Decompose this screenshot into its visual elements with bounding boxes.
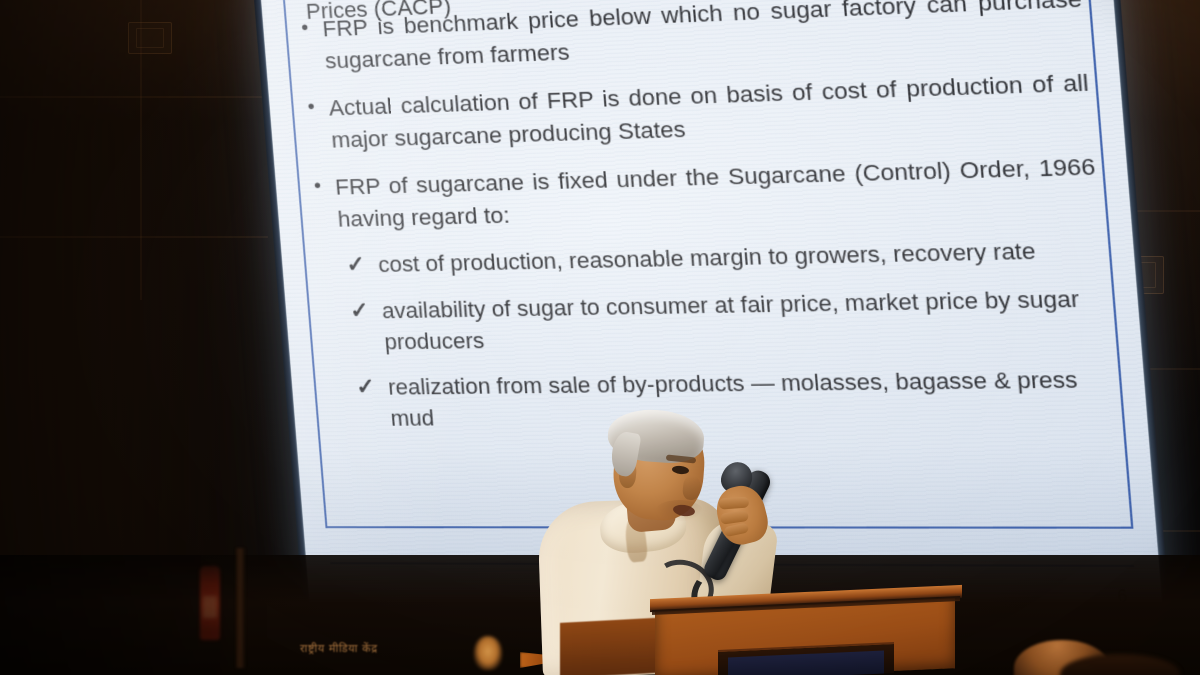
venue-sign-text: राष्ट्रीय मीडिया केंद्र <box>300 641 378 656</box>
left-shadow-gradient <box>0 0 268 675</box>
finger <box>719 497 750 510</box>
podium-side <box>560 617 670 675</box>
ashoka-emblem-icon <box>474 636 502 670</box>
finger <box>724 522 750 537</box>
photo-scene: ative Price for Sugarcane 2025 ery sugar… <box>0 0 1200 675</box>
